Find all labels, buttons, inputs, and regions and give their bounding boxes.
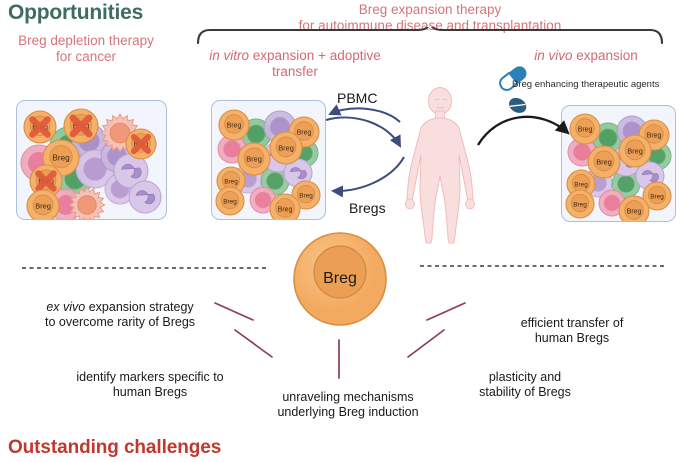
page-title-challenges: Outstanding challenges (8, 437, 221, 459)
challenge-0-line1: ex vivo expansion strategy (14, 300, 226, 315)
challenge-0-rest: expansion strategy (85, 300, 193, 314)
challenge-text-0: ex vivo expansion strategy to overcome r… (14, 300, 226, 330)
svg-text:Breg: Breg (278, 143, 294, 152)
therapeutic-agents-label: Breg enhancing therapeutic agents (512, 79, 659, 90)
central-breg-label: Breg (293, 232, 387, 326)
challenge-1-line1: identify markers specific to (55, 370, 245, 385)
expansion-brace-icon (196, 27, 664, 44)
challenge-rays (215, 303, 465, 378)
challenge-2-line2: underlying Breg induction (262, 405, 434, 420)
svg-text:Breg: Breg (227, 122, 242, 129)
in-vivo-italic: in vivo (534, 48, 572, 63)
challenge-text-3: plasticity and stability of Bregs (455, 370, 595, 400)
svg-text:Breg: Breg (35, 201, 51, 210)
in-vitro-expansion-label: in vitro expansion + adoptive transfer (195, 48, 395, 79)
challenge-0-italic: ex vivo (46, 300, 85, 314)
bregs-to-patient-arrow (333, 157, 404, 191)
challenge-text-4: efficient transfer of human Bregs (492, 316, 652, 346)
svg-text:Breg: Breg (627, 208, 642, 215)
svg-text:Breg: Breg (246, 154, 262, 163)
depletion-header-line2: for cancer (2, 49, 170, 65)
pbmc-to-box-arrow (326, 118, 400, 146)
challenge-4-line2: human Bregs (492, 331, 652, 346)
in-vitro-cell-cluster-box: BregBregBregBregBregBregBregBreg (211, 100, 326, 220)
svg-text:Breg: Breg (52, 152, 70, 162)
svg-text:Breg: Breg (224, 178, 238, 185)
in-vitro-line2: transfer (195, 64, 395, 80)
svg-text:Breg: Breg (223, 198, 237, 205)
svg-text:Breg: Breg (297, 129, 312, 136)
challenge-text-1: identify markers specific to human Bregs (55, 370, 245, 400)
challenge-2-line1: unraveling mechanisms (262, 390, 434, 405)
challenge-3-line1: plasticity and (455, 370, 595, 385)
svg-text:Breg: Breg (650, 193, 664, 200)
in-vivo-line1: in vivo expansion (500, 48, 672, 64)
in-vitro-rest: expansion + adoptive (249, 48, 381, 63)
therapeutic-agent-arrow (478, 117, 568, 145)
in-vivo-rest: expansion (572, 48, 637, 63)
svg-text:Breg: Breg (278, 206, 293, 213)
in-vitro-italic: in vitro (209, 48, 249, 63)
challenge-text-2: unraveling mechanisms underlying Breg in… (262, 390, 434, 420)
pbmc-label: PBMC (337, 90, 377, 106)
in-vivo-expansion-label: in vivo expansion (500, 48, 672, 64)
pbmc-extraction-arrow (330, 108, 400, 122)
in-vitro-line1: in vitro expansion + adoptive (195, 48, 395, 64)
depletion-header-line1: Breg depletion therapy (2, 33, 170, 49)
page-title-opportunities: Opportunities (8, 1, 143, 25)
challenge-4-line1: efficient transfer of (492, 316, 652, 331)
svg-text:Breg: Breg (627, 146, 643, 155)
depletion-cell-cluster-box: BregBregBregBregBregBreg (16, 100, 167, 220)
svg-text:Breg: Breg (596, 157, 612, 166)
central-breg-cell (294, 233, 386, 325)
depletion-therapy-header: Breg depletion therapy for cancer (2, 33, 170, 64)
svg-text:Breg: Breg (647, 132, 662, 139)
svg-text:Breg: Breg (574, 181, 588, 188)
svg-text:Breg: Breg (573, 201, 587, 208)
challenge-1-line2: human Bregs (55, 385, 245, 400)
bregs-label: Bregs (349, 200, 386, 216)
svg-text:Breg: Breg (299, 192, 313, 199)
tablet-icon (506, 95, 528, 116)
human-body-icon (406, 88, 475, 244)
in-vivo-cell-cluster-box: BregBregBregBregBregBregBregBreg (561, 105, 676, 222)
challenge-0-line2: to overcome rarity of Bregs (14, 315, 226, 330)
challenge-3-line2: stability of Bregs (455, 385, 595, 400)
svg-text:Breg: Breg (578, 126, 593, 133)
expansion-header-line1: Breg expansion therapy (200, 2, 660, 18)
